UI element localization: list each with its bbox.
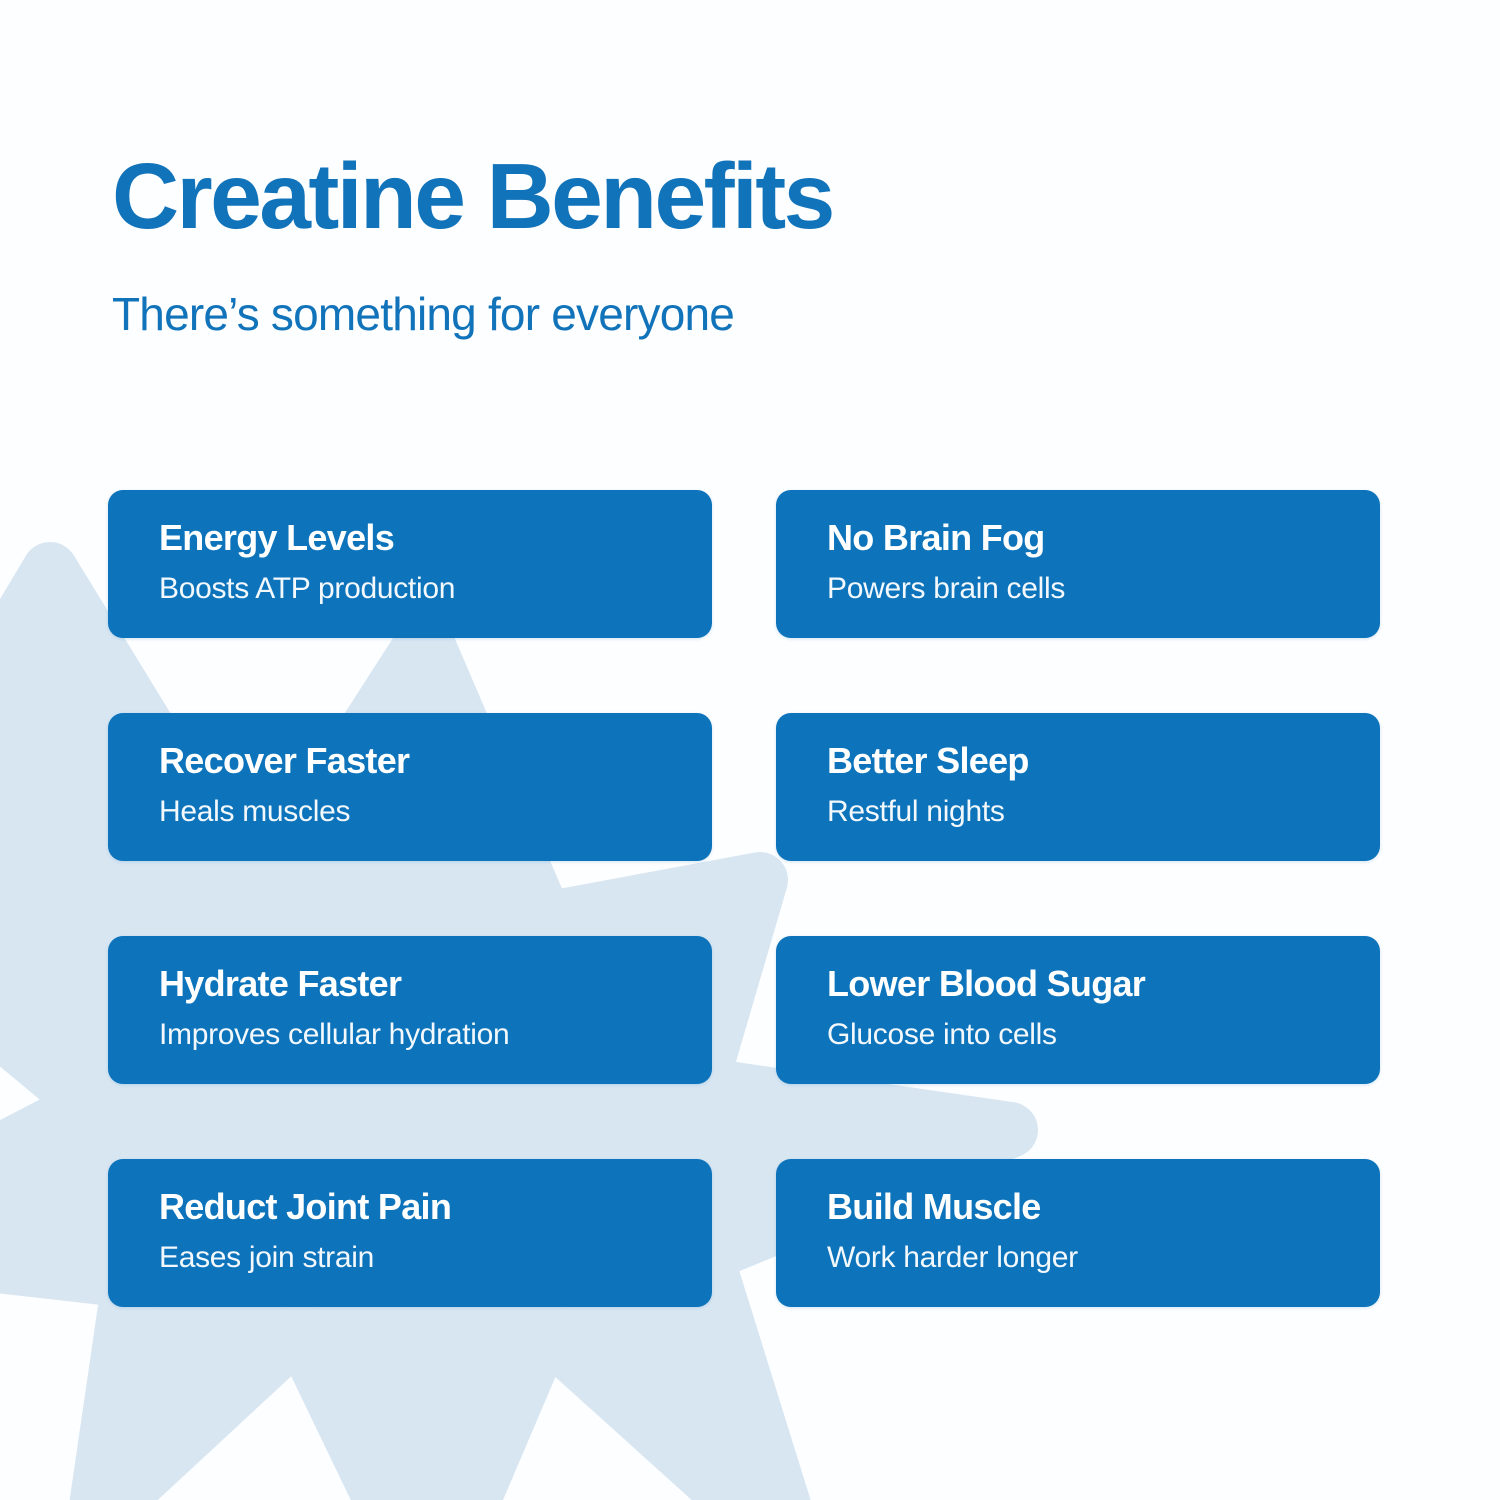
benefit-card-description: Restful nights — [827, 779, 1380, 827]
benefit-card-title: Hydrate Faster — [159, 966, 712, 1002]
benefit-card-description: Powers brain cells — [827, 556, 1380, 604]
benefit-card-title: No Brain Fog — [827, 520, 1380, 556]
benefit-card-hydrate-faster[interactable]: Hydrate Faster Improves cellular hydrati… — [108, 936, 712, 1084]
benefit-card-lower-blood-sugar[interactable]: Lower Blood Sugar Glucose into cells — [776, 936, 1380, 1084]
benefit-card-description: Eases join strain — [159, 1225, 712, 1273]
header: Creatine Benefits There’s something for … — [112, 150, 833, 337]
benefit-card-title: Lower Blood Sugar — [827, 966, 1380, 1002]
infographic-canvas: Creatine Benefits There’s something for … — [0, 0, 1500, 1500]
benefit-card-recover-faster[interactable]: Recover Faster Heals muscles — [108, 713, 712, 861]
benefit-card-description: Boosts ATP production — [159, 556, 712, 604]
benefit-card-title: Reduct Joint Pain — [159, 1189, 712, 1225]
benefit-card-description: Work harder longer — [827, 1225, 1380, 1273]
benefit-card-energy-levels[interactable]: Energy Levels Boosts ATP production — [108, 490, 712, 638]
benefit-card-description: Glucose into cells — [827, 1002, 1380, 1050]
benefit-card-description: Improves cellular hydration — [159, 1002, 712, 1050]
benefit-card-title: Build Muscle — [827, 1189, 1380, 1225]
page-subtitle: There’s something for everyone — [112, 243, 833, 337]
benefit-card-no-brain-fog[interactable]: No Brain Fog Powers brain cells — [776, 490, 1380, 638]
benefit-card-title: Recover Faster — [159, 743, 712, 779]
benefit-card-title: Better Sleep — [827, 743, 1380, 779]
benefit-card-grid: Energy Levels Boosts ATP production No B… — [108, 490, 1380, 1307]
benefit-card-title: Energy Levels — [159, 520, 712, 556]
page-title: Creatine Benefits — [112, 150, 833, 243]
benefit-card-build-muscle[interactable]: Build Muscle Work harder longer — [776, 1159, 1380, 1307]
benefit-card-reduce-joint-pain[interactable]: Reduct Joint Pain Eases join strain — [108, 1159, 712, 1307]
benefit-card-better-sleep[interactable]: Better Sleep Restful nights — [776, 713, 1380, 861]
benefit-card-description: Heals muscles — [159, 779, 712, 827]
